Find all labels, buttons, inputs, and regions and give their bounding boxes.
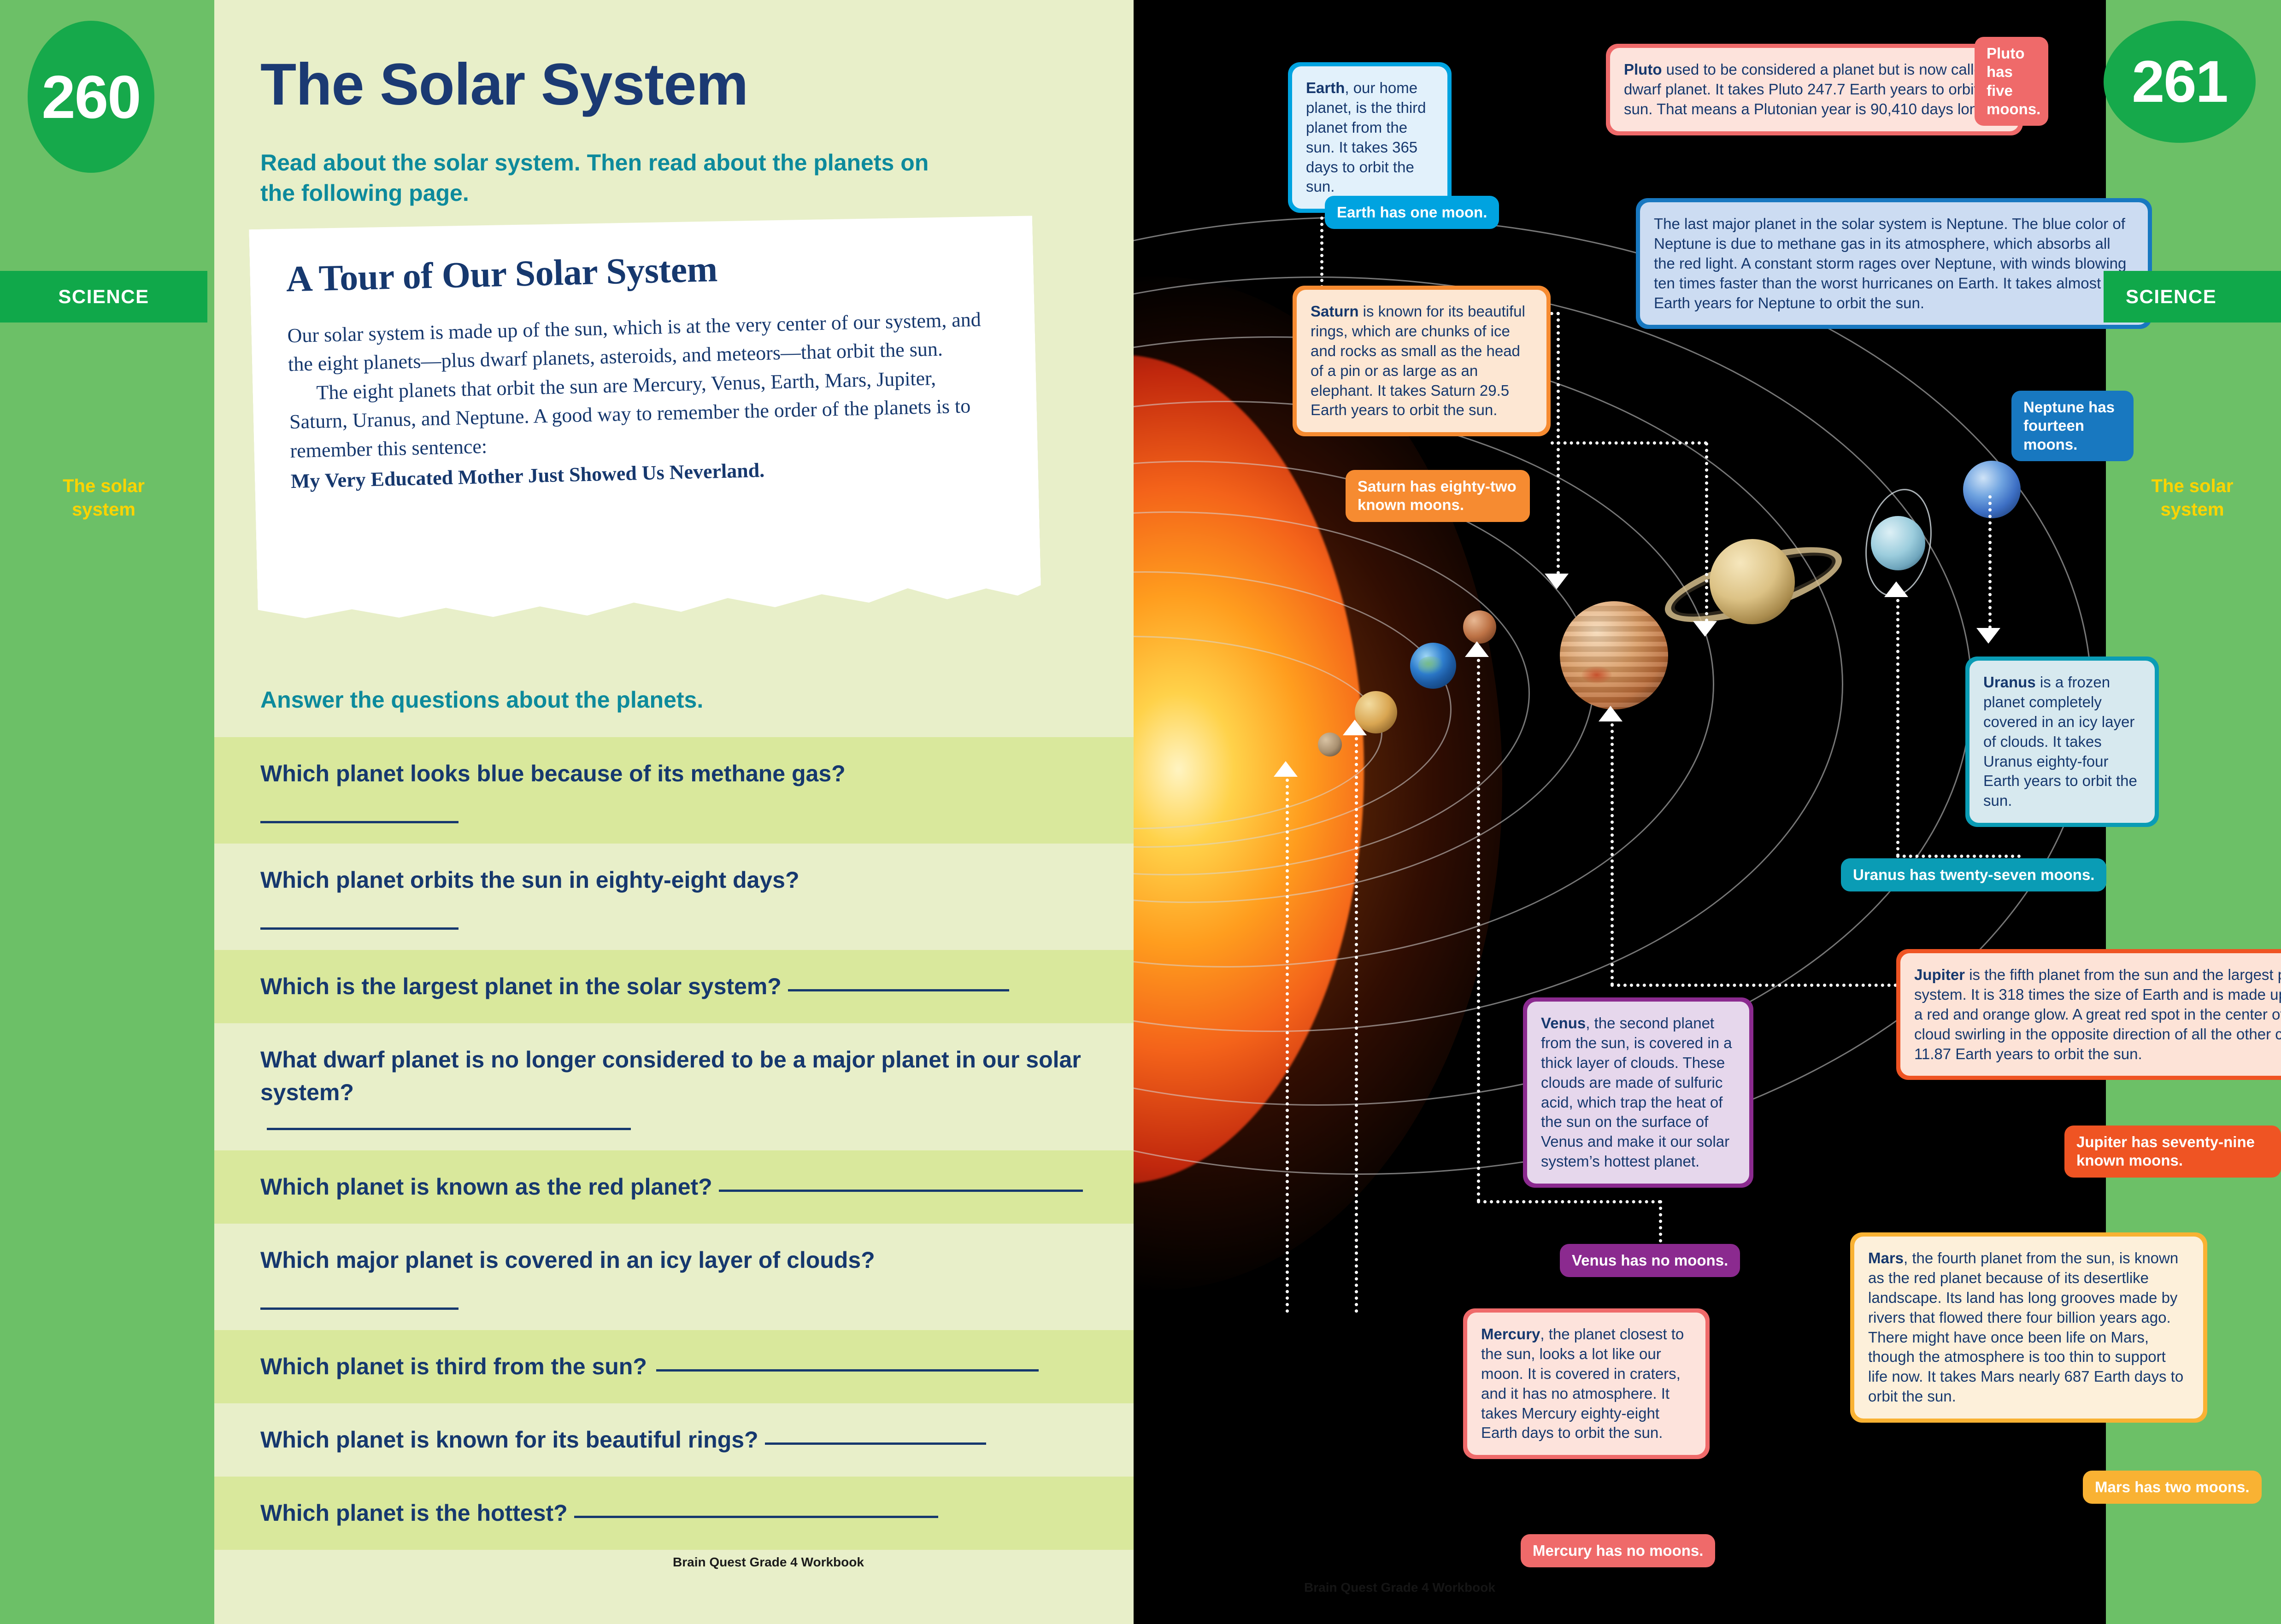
callout-pluto-lead: Pluto [1624, 61, 1662, 78]
question-row-3: Which is the largest planet in the solar… [214, 950, 1134, 1023]
question-text-3: Which is the largest planet in the solar… [260, 970, 782, 1003]
answer-blank-6[interactable] [260, 1289, 459, 1310]
question-text-9: Which planet is the hottest? [260, 1497, 568, 1530]
question-row-7: Which planet is third from the sun? [214, 1330, 1134, 1403]
topic-label-left: The solar system [0, 475, 207, 522]
callout-pluto[interactable]: Pluto used to be considered a planet but… [1606, 44, 2023, 135]
question-text-7: Which planet is third from the sun? [260, 1350, 647, 1383]
callout-mercury[interactable]: Mercury, the planet closest to the sun, … [1463, 1308, 1710, 1459]
topic-line-2: system [72, 499, 135, 520]
callout-mars[interactable]: Mars, the fourth planet from the sun, is… [1850, 1232, 2207, 1423]
badge-mars-moons: Mars has two moons. [2083, 1471, 2262, 1504]
question-text-1: Which planet looks blue because of its m… [260, 757, 846, 790]
arrow-neptune [1976, 628, 2000, 644]
badge-mercury-moons: Mercury has no moons. [1521, 1534, 1715, 1567]
callout-jupiter-body: Jupiter is the fifth planet from the sun… [1900, 953, 2281, 1076]
planet-jupiter [1560, 601, 1668, 709]
planet-saturn [1710, 539, 1795, 624]
callout-jupiter-lead: Jupiter [1914, 966, 1965, 983]
badge-pluto-moons: Pluto has five moons. [1975, 37, 2048, 126]
leader-mars-run [1477, 1200, 1661, 1203]
passage-heading: A Tour of Our Solar System [286, 244, 991, 298]
answer-blank-1[interactable] [260, 802, 459, 823]
answer-blank-7[interactable] [656, 1350, 1039, 1372]
leader-uranus-run [1896, 855, 2021, 858]
callout-mercury-text: , the planet closest to the sun, looks a… [1481, 1325, 1684, 1441]
page-number-badge-left: 260 [28, 21, 154, 173]
badge-neptune-moons: Neptune has fourteen moons. [2011, 391, 2134, 461]
question-row-6: Which major planet is covered in an icy … [214, 1224, 1134, 1330]
badge-earth-moons: Earth has one moon. [1325, 196, 1499, 229]
reading-passage-card: A Tour of Our Solar System Our solar sys… [253, 220, 1055, 635]
question-text-2: Which planet orbits the sun in eighty-ei… [260, 864, 800, 897]
arrow-uranus [1884, 581, 1908, 597]
callout-mars-body: Mars, the fourth planet from the sun, is… [1854, 1237, 2203, 1419]
callout-venus[interactable]: Venus, the second planet from the sun, i… [1523, 997, 1753, 1188]
arrow-jupiter [1599, 706, 1623, 721]
answer-blank-4[interactable] [267, 1109, 631, 1130]
leader-uranus-vert [1896, 599, 1899, 857]
callout-uranus[interactable]: Uranus is a frozen planet completely cov… [1965, 657, 2159, 827]
subject-bar-left: SCIENCE [0, 271, 207, 322]
intro-instruction: Read about the solar system. Then read a… [260, 147, 961, 208]
badge-saturn-moons: Saturn has eighty-two known moons. [1346, 470, 1530, 522]
callout-mercury-lead: Mercury [1481, 1325, 1540, 1343]
topic-label-right: The solar system [2104, 475, 2281, 522]
planet-uranus [1871, 516, 1925, 570]
question-text-6: Which major planet is covered in an icy … [260, 1244, 875, 1277]
leader-venus-vert [1355, 737, 1358, 1313]
callout-saturn[interactable]: Saturn is known for its beautiful rings,… [1293, 286, 1551, 436]
callout-uranus-lead: Uranus [1983, 674, 2036, 691]
intro-before: Read about the [260, 150, 433, 176]
torn-paper: A Tour of Our Solar System Our solar sys… [249, 211, 1041, 623]
arrow-saturn [1693, 621, 1717, 637]
callout-mars-lead: Mars [1868, 1249, 1904, 1266]
question-row-8: Which planet is known for its beautiful … [214, 1403, 1134, 1477]
callout-mercury-body: Mercury, the planet closest to the sun, … [1467, 1313, 1705, 1455]
callout-neptune-body: The last major planet in the solar syste… [1640, 202, 2148, 325]
left-page: 260 SCIENCE The solar system The Solar S… [0, 0, 1134, 1624]
callout-earth[interactable]: Earth, our home planet, is the third pla… [1288, 62, 1452, 213]
passage-paragraph-2: The eight planets that orbit the sun are… [288, 363, 995, 465]
answer-blank-2[interactable] [260, 909, 459, 930]
planet-earth [1410, 643, 1456, 689]
badge-venus-moons: Venus has no moons. [1560, 1244, 1740, 1277]
question-row-1: Which planet looks blue because of its m… [214, 737, 1134, 844]
callout-saturn-text: is known for its beautiful rings, which … [1311, 303, 1525, 418]
callout-venus-lead: Venus [1541, 1014, 1586, 1032]
topic-right-line-2: system [2161, 499, 2224, 520]
planet-mars [1463, 610, 1496, 644]
intro-bold: solar system. [433, 150, 581, 176]
questions-instruction: Answer the questions about the planets. [260, 686, 998, 713]
answer-blank-5[interactable] [719, 1171, 1083, 1192]
leader-saturn-drop [1705, 442, 1708, 622]
arrow-mars [1465, 641, 1489, 657]
right-page: Brain Quest Grade 4 Workbook Earth, our … [1134, 0, 2281, 1624]
callout-earth-lead: Earth [1306, 79, 1345, 96]
question-text-8: Which planet is known for its beautiful … [260, 1424, 758, 1456]
callout-earth-body: Earth, our home planet, is the third pla… [1292, 66, 1447, 209]
question-row-5: Which planet is known as the red planet? [214, 1150, 1134, 1224]
leader-saturn-run [1551, 441, 1707, 445]
callout-jupiter[interactable]: Jupiter is the fifth planet from the sun… [1896, 949, 2281, 1080]
callout-jupiter-text: is the fifth planet from the sun and the… [1914, 966, 2281, 1062]
question-row-2: Which planet orbits the sun in eighty-ei… [214, 844, 1134, 950]
question-row-9: Which planet is the hottest? [214, 1477, 1134, 1550]
planet-mercury [1318, 733, 1342, 756]
topic-right-line-1: The solar [2152, 476, 2234, 496]
callout-venus-body: Venus, the second planet from the sun, i… [1527, 1002, 1749, 1184]
arrow-venus [1343, 720, 1367, 735]
leader-mercury-vert [1286, 779, 1289, 1313]
question-text-5: Which planet is known as the red planet? [260, 1171, 712, 1203]
workbook-spread: 260 SCIENCE The solar system The Solar S… [0, 0, 2281, 1624]
question-row-4: What dwarf planet is no longer considere… [214, 1023, 1134, 1150]
page-title: The Solar System [260, 55, 748, 114]
topic-line-1: The solar [63, 476, 145, 496]
callout-pluto-body: Pluto used to be considered a planet but… [1610, 48, 2019, 131]
arrow-mercury [1274, 761, 1298, 777]
credit-line-left: Brain Quest Grade 4 Workbook [673, 1555, 864, 1570]
page-number-badge-right: 261 [2104, 21, 2256, 143]
callout-uranus-text: is a frozen planet completely covered in… [1983, 674, 2137, 809]
badge-uranus-moons: Uranus has twenty-seven moons. [1841, 858, 2106, 891]
leader-mars-vert [1477, 659, 1480, 1202]
answer-blank-8[interactable] [765, 1424, 986, 1445]
subject-bar-right: SCIENCE [2104, 271, 2281, 322]
callout-earth-text: , our home planet, is the third planet f… [1306, 79, 1426, 195]
callout-neptune[interactable]: The last major planet in the solar syste… [1636, 198, 2152, 329]
callout-saturn-body: Saturn is known for its beautiful rings,… [1297, 290, 1546, 432]
question-list: Which planet looks blue because of its m… [214, 737, 1134, 1550]
credit-line-right: Brain Quest Grade 4 Workbook [1304, 1580, 1495, 1595]
arrow-earth [1545, 574, 1569, 589]
planet-neptune [1963, 461, 2021, 518]
badge-jupiter-moons: Jupiter has seventy-nine known moons. [2064, 1126, 2281, 1178]
answer-blank-9[interactable] [574, 1497, 938, 1518]
callout-uranus-body: Uranus is a frozen planet completely cov… [1969, 661, 2155, 823]
callout-pluto-text: used to be considered a planet but is no… [1624, 61, 2004, 117]
answer-blank-3[interactable] [788, 970, 1009, 991]
leader-neptune [1988, 495, 1992, 629]
leader-jupiter-vert [1611, 723, 1614, 986]
callout-mars-text: , the fourth planet from the sun, is kno… [1868, 1249, 2183, 1405]
passage-inner: A Tour of Our Solar System Our solar sys… [286, 244, 996, 496]
callout-saturn-lead: Saturn [1311, 303, 1359, 320]
leader-jupiter-run [1611, 984, 1942, 987]
callout-venus-text: , the second planet from the sun, is cov… [1541, 1014, 1732, 1170]
question-text-4: What dwarf planet is no longer considere… [260, 1044, 1099, 1109]
